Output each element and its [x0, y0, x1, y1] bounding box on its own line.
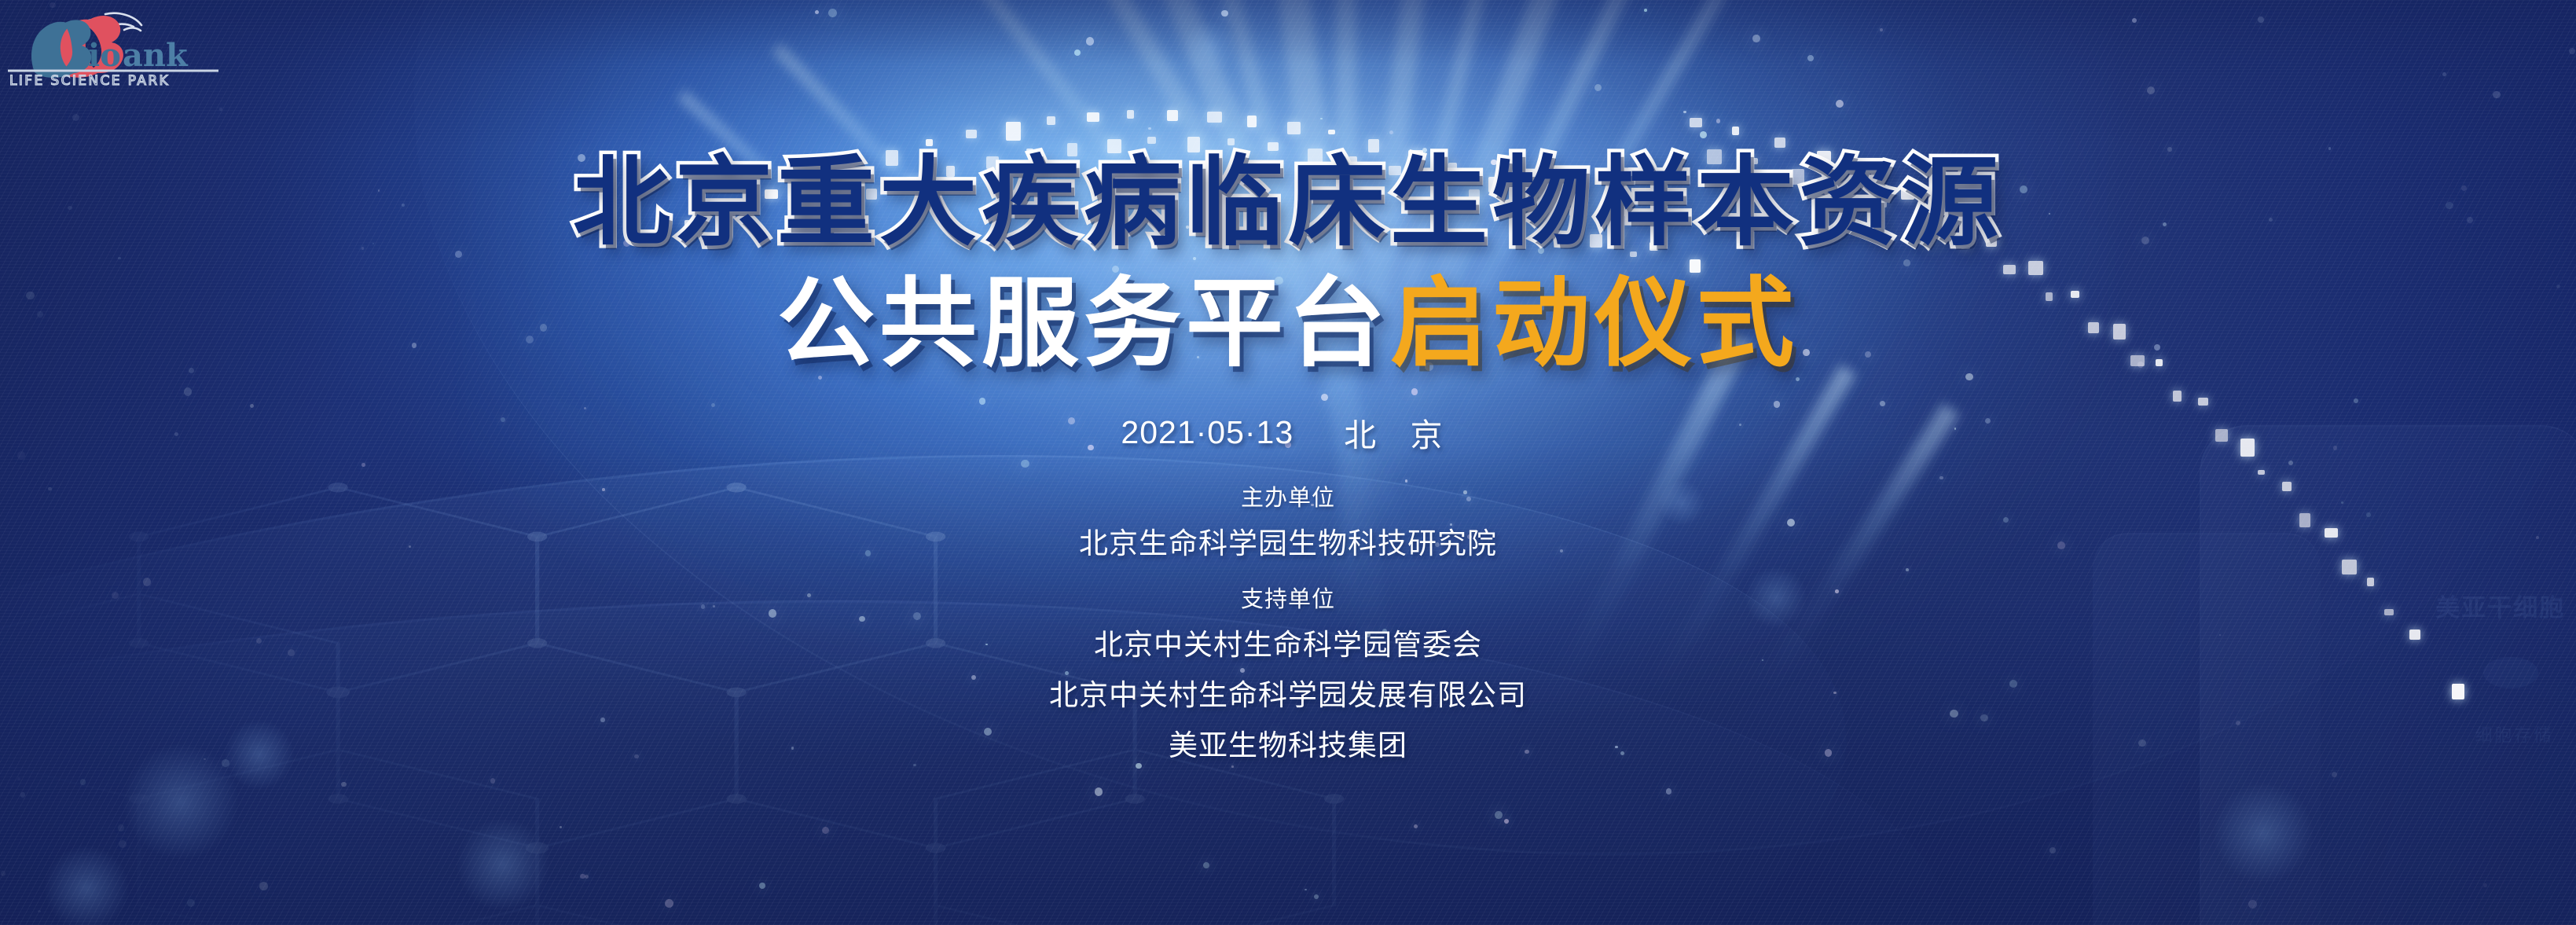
- credit-role-supporter: 支持单位: [1241, 581, 1335, 614]
- event-date: 2021·05·13: [1121, 414, 1294, 451]
- event-title-line-2: 公共服务平台 启动仪式: [777, 275, 1799, 373]
- credit-role-organizer: 主办单位: [1241, 479, 1335, 512]
- event-title-line-1: 北京重大疾病临床生物样本资源: [573, 154, 2003, 251]
- credits-block: 主办单位 北京生命科学园生物科技研究院 支持单位 北京中关村生命科学园管委会 北…: [1049, 479, 1527, 772]
- svg-text:io: io: [88, 37, 121, 74]
- svg-text:LIFE SCIENCE PARK: LIFE SCIENCE PARK: [9, 73, 170, 88]
- biobank-logo[interactable]: io ank LIFE SCIENCE PARK: [6, 6, 242, 88]
- credit-unit-organizer-1: 北京生命科学园生物科技研究院: [1079, 519, 1497, 562]
- banner-content: 北京重大疾病临床生物样本资源 公共服务平台 启动仪式 2021·05·13 北 …: [0, 0, 2576, 925]
- event-title-ceremony: 启动仪式: [1390, 275, 1799, 373]
- event-title-platform: 公共服务平台: [777, 275, 1390, 373]
- event-city: 北 京: [1344, 409, 1455, 456]
- event-meta: 2021·05·13 北 京: [1121, 409, 1455, 456]
- svg-text:ank: ank: [123, 37, 189, 74]
- biobank-logo-mark: io ank LIFE SCIENCE PARK: [6, 6, 242, 88]
- credit-unit-supporter-3: 美亚生物科技集团: [1169, 721, 1407, 764]
- credit-unit-supporter-1: 北京中关村生命科学园管委会: [1094, 621, 1482, 663]
- credit-unit-supporter-2: 北京中关村生命科学园发展有限公司: [1049, 671, 1527, 714]
- event-banner: 美亚干细胞 细胞存储: [0, 0, 2576, 925]
